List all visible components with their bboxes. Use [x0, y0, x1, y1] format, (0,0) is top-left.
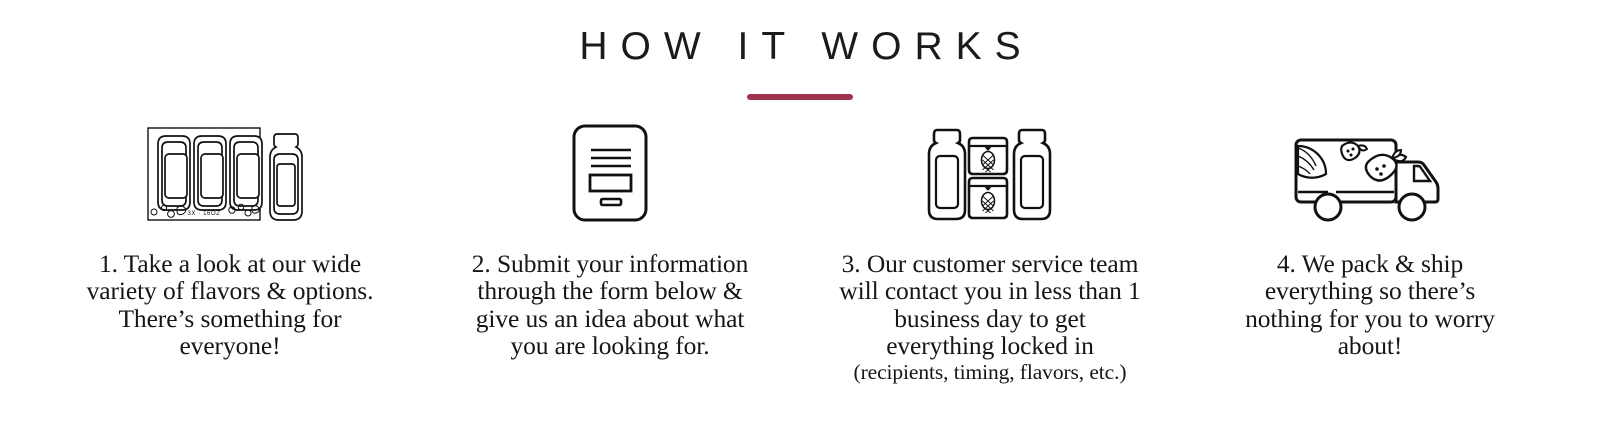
form-document-icon	[555, 122, 665, 227]
delivery-truck-fruit-icon	[1288, 122, 1452, 227]
step-item-3: 3. Our customer service team will contac…	[800, 122, 1180, 385]
step-description-2: 2. Submit your information through the f…	[463, 250, 757, 360]
step-item-4: 4. We pack & ship everything so there’s …	[1180, 122, 1560, 360]
title-underline-rule	[747, 94, 853, 100]
juice-pack-bottles-icon: 3X · 16OZ	[144, 122, 316, 227]
step-description-3: 3. Our customer service team will contac…	[839, 250, 1141, 360]
steps-row: 3X · 16OZ 1. Take a look at our wide var…	[0, 122, 1600, 385]
page-title: HOW IT WORKS	[0, 24, 1600, 71]
how-it-works-section: HOW IT WORKS	[0, 0, 1600, 435]
icon-size-label: 3X · 16OZ	[187, 211, 220, 217]
step-item-1: 3X · 16OZ 1. Take a look at our wide var…	[40, 122, 420, 360]
bottles-and-jars-icon	[920, 122, 1060, 227]
step-description-4: 4. We pack & ship everything so there’s …	[1234, 250, 1506, 360]
step-subdescription-3: (recipients, timing, flavors, etc.)	[839, 360, 1141, 385]
step-item-2: 2. Submit your information through the f…	[420, 122, 800, 360]
step-description-1: 1. Take a look at our wide variety of fl…	[80, 250, 380, 360]
section-header: HOW IT WORKS	[0, 0, 1600, 100]
